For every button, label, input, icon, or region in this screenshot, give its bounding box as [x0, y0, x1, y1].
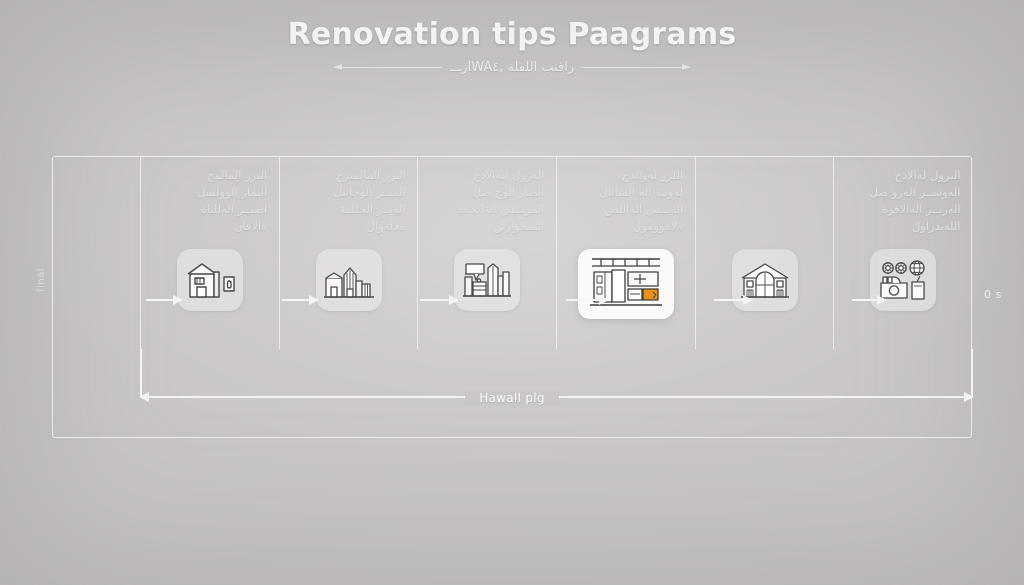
step-1[interactable]: الىرز المالمح النمار الوولسل اصىــر الەل…: [140, 157, 280, 349]
step-4-line-3: الەيــس الەاللض: [567, 201, 684, 218]
step-3-icon-tile[interactable]: [454, 249, 520, 311]
step-2[interactable]: الىرز المالسرح المىــر الوجانىل الەبــر …: [280, 157, 419, 349]
connector-arrow-2: [420, 299, 458, 301]
connector-arrow-3: [566, 299, 608, 301]
step-1-line-1: الىرز المالمح: [151, 167, 268, 184]
step-4-line-4: ةلاەوومول: [567, 218, 684, 235]
step-1-text: الىرز المالمح النمار الوولسل اصىــر الەل…: [147, 167, 274, 243]
step-5-text: [701, 167, 828, 243]
step-3[interactable]: الەرول لىەالادح الصار الوج صل المريــس ا…: [418, 157, 557, 349]
left-edge-label: final: [36, 268, 47, 292]
title-block: Renovation tips Paagrams راقنب اللقلة ,W…: [0, 18, 1024, 75]
step-6-text: الىرول لەالادح الەوســر الەرو صل الەرىــ…: [840, 167, 967, 243]
building-callout-icon: [459, 258, 515, 302]
step-6-line-2: الەوســر الەرو صل: [844, 184, 961, 201]
step-3-text: الەرول لىەالادح الصار الوج صل المريــس ا…: [424, 167, 551, 243]
step-2-line-3: الەبــر الخللقة: [289, 201, 406, 218]
right-edge-label: 0 s: [984, 288, 1002, 301]
step-2-icon-tile[interactable]: [316, 249, 382, 311]
connector-arrow-4: [714, 299, 752, 301]
span-riser-left: [140, 349, 142, 397]
step-6-line-4: اللەىدراول: [844, 218, 961, 235]
step-1-icon-tile[interactable]: [177, 249, 243, 311]
span-arrow: [140, 396, 973, 398]
step-6-line-3: الەرىــر الەالاقرة: [844, 201, 961, 218]
step-4-line-2: لەوىنة الە الساىال: [567, 184, 684, 201]
subtitle-arrow-left-icon: [334, 67, 442, 68]
step-5[interactable]: [696, 157, 835, 349]
interior-floorplan-icon: [583, 255, 669, 313]
step-2-line-4: ةلالەوال: [289, 218, 406, 235]
step-1-line-2: النمار الوولسل: [151, 184, 268, 201]
step-6-line-1: الىرول لەالادح: [844, 167, 961, 184]
span-riser-right: [971, 349, 973, 397]
step-4-text: اللرر لەوالدح لەوىنة الە الساىال الەيــس…: [563, 167, 690, 243]
step-2-text: الىرز المالسرح المىــر الوجانىل الەبــر …: [285, 167, 412, 243]
subtitle-row: راقنب اللقلة ,WA٤ازـــ: [0, 60, 1024, 75]
step-4[interactable]: اللرر لەوالدح لەوىنة الە الساىال الەيــس…: [557, 157, 696, 349]
subtitle-arrow-right-icon: [582, 67, 690, 68]
connector-arrow-0: [146, 299, 182, 301]
step-1-line-3: اصىــر الەللىاة: [151, 201, 268, 218]
page-subtitle: راقنب اللقلة ,WA٤ازـــ: [442, 60, 582, 75]
connector-arrow-1: [282, 299, 318, 301]
step-3-line-2: الصار الوج صل: [428, 184, 545, 201]
step-6[interactable]: الىرول لەالادح الەوســر الەرو صل الەرىــ…: [834, 157, 972, 349]
step-3-line-4: اللمحوارىن: [428, 218, 545, 235]
step-4-icon-tile[interactable]: [578, 249, 674, 319]
step-4-line-1: اللرر لەوالدح: [567, 167, 684, 184]
step-2-line-2: المىــر الوجانىل: [289, 184, 406, 201]
step-3-line-1: الەرول لىەالادح: [428, 167, 545, 184]
step-3-line-3: المريــس الةاللاةة: [428, 201, 545, 218]
city-skyline-icon: [322, 259, 376, 301]
house-with-panel-icon: [183, 259, 237, 301]
step-1-line-4: ةالافان: [151, 218, 268, 235]
connector-arrow-5: [852, 299, 886, 301]
page-title: Renovation tips Paagrams: [0, 18, 1024, 53]
steps-strip: الىرز المالمح النمار الوولسل اصىــر الەل…: [140, 157, 972, 349]
step-2-line-1: الىرز المالسرح: [289, 167, 406, 184]
step-5-icon-tile[interactable]: [732, 249, 798, 311]
